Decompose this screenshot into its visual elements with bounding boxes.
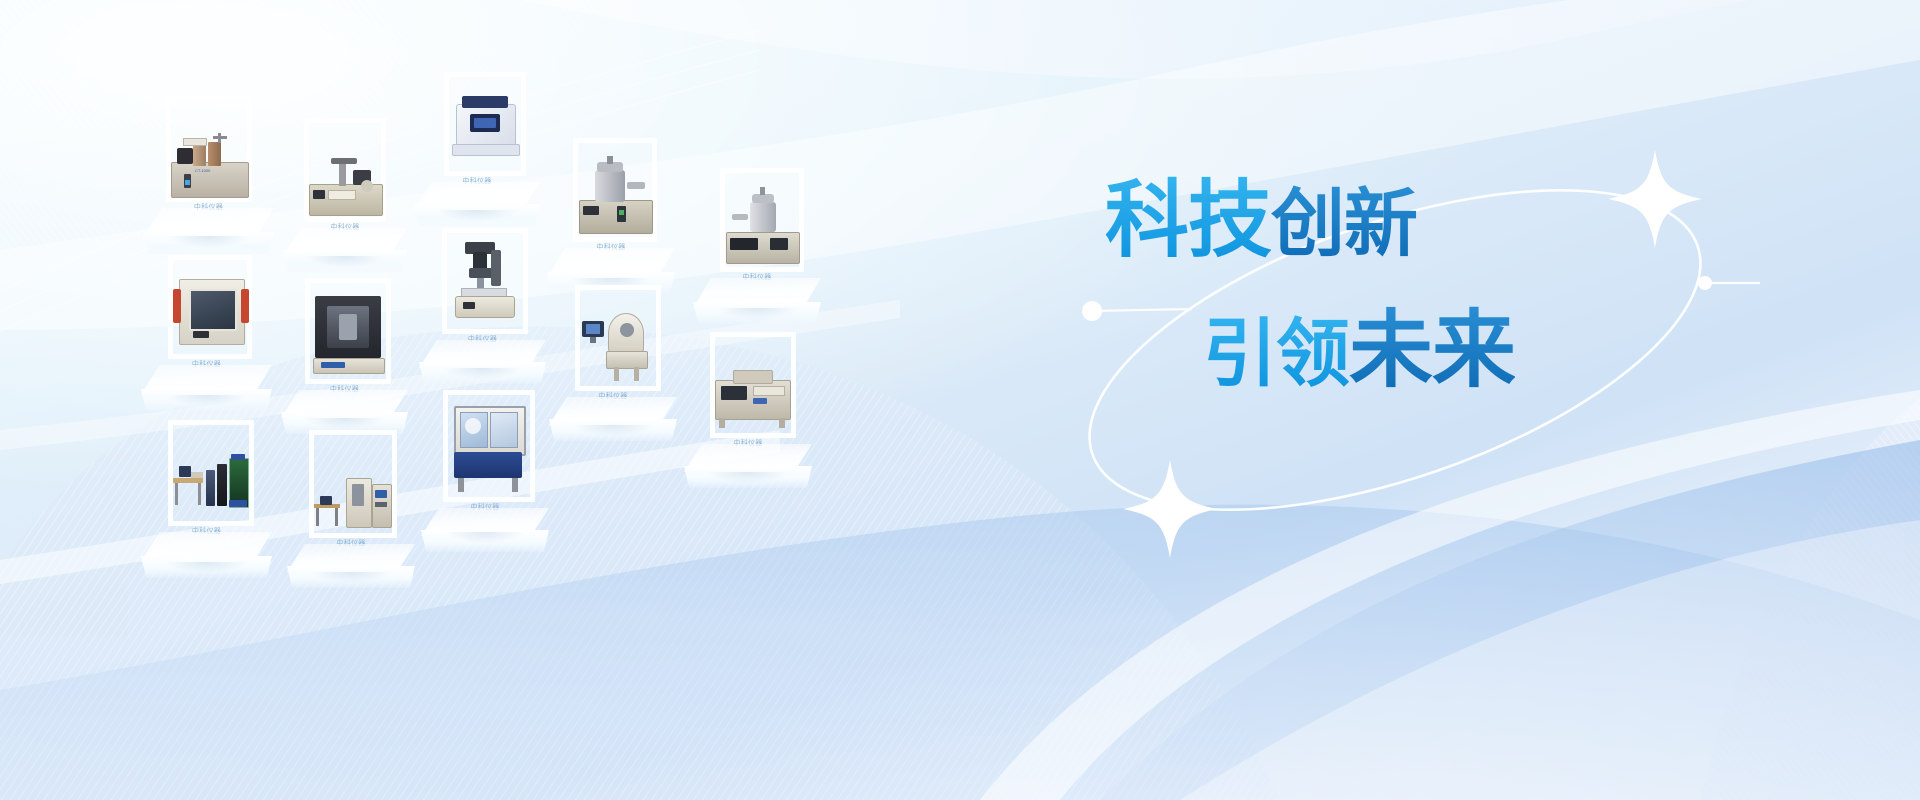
tile-pedestal — [287, 544, 415, 572]
tile-pedestal — [419, 340, 546, 368]
headline-line-2: 引领未来 — [1105, 308, 1665, 392]
product-image — [311, 292, 387, 378]
tile-pedestal — [693, 278, 821, 308]
product-tile[interactable]: 中科仪器 — [281, 278, 408, 418]
headline-line-1: 科技创新 — [1105, 178, 1665, 262]
product-tile[interactable]: CT-1000 中科仪器 — [143, 96, 274, 236]
product-image — [173, 273, 249, 353]
product-image: CT-1000 — [171, 136, 247, 198]
tile-pedestal — [141, 532, 272, 562]
headline-line2-secondary: 未来 — [1349, 303, 1515, 397]
product-image — [173, 454, 251, 520]
product-image — [448, 92, 522, 166]
product-tile[interactable]: 中科仪器 — [414, 72, 540, 210]
tile-pedestal — [141, 365, 272, 395]
product-tile[interactable]: 中科仪器 — [684, 332, 812, 472]
product-image — [314, 470, 392, 532]
hero-banner: CT-1000 中科仪器 中科仪器 — [0, 0, 1920, 800]
product-image — [724, 186, 800, 266]
tile-pedestal — [414, 182, 540, 210]
product-image — [447, 240, 523, 328]
headline-line2-primary: 引领 — [1203, 312, 1349, 395]
headline-block: 科技创新 引领未来 — [1105, 178, 1665, 392]
product-tile[interactable]: 中科仪器 — [419, 228, 546, 368]
product-tile[interactable]: 中科仪器 — [549, 285, 677, 425]
tile-pedestal — [549, 397, 677, 425]
product-image — [580, 307, 656, 385]
product-tile[interactable]: 中科仪器 — [421, 390, 549, 532]
headline-line1-secondary: 创新 — [1271, 182, 1417, 265]
product-tile[interactable]: 中科仪器 — [141, 420, 272, 562]
product-grid: CT-1000 中科仪器 中科仪器 — [0, 0, 1920, 800]
headline-line1-primary: 科技 — [1105, 173, 1271, 267]
product-tile[interactable]: 中科仪器 — [693, 168, 821, 308]
tile-pedestal — [281, 390, 408, 418]
tile-pedestal — [283, 228, 407, 256]
product-image — [309, 156, 381, 218]
product-tile[interactable]: 中科仪器 — [283, 118, 407, 256]
tile-pedestal — [684, 444, 812, 472]
product-tile[interactable]: 中科仪器 — [287, 430, 415, 572]
product-tile[interactable]: 中科仪器 — [547, 138, 675, 278]
product-image — [715, 364, 791, 432]
product-image — [448, 402, 530, 496]
product-image — [577, 156, 653, 236]
tile-pedestal — [143, 208, 274, 238]
product-tile[interactable]: 中科仪器 — [141, 255, 272, 395]
tile-pedestal — [547, 248, 675, 278]
